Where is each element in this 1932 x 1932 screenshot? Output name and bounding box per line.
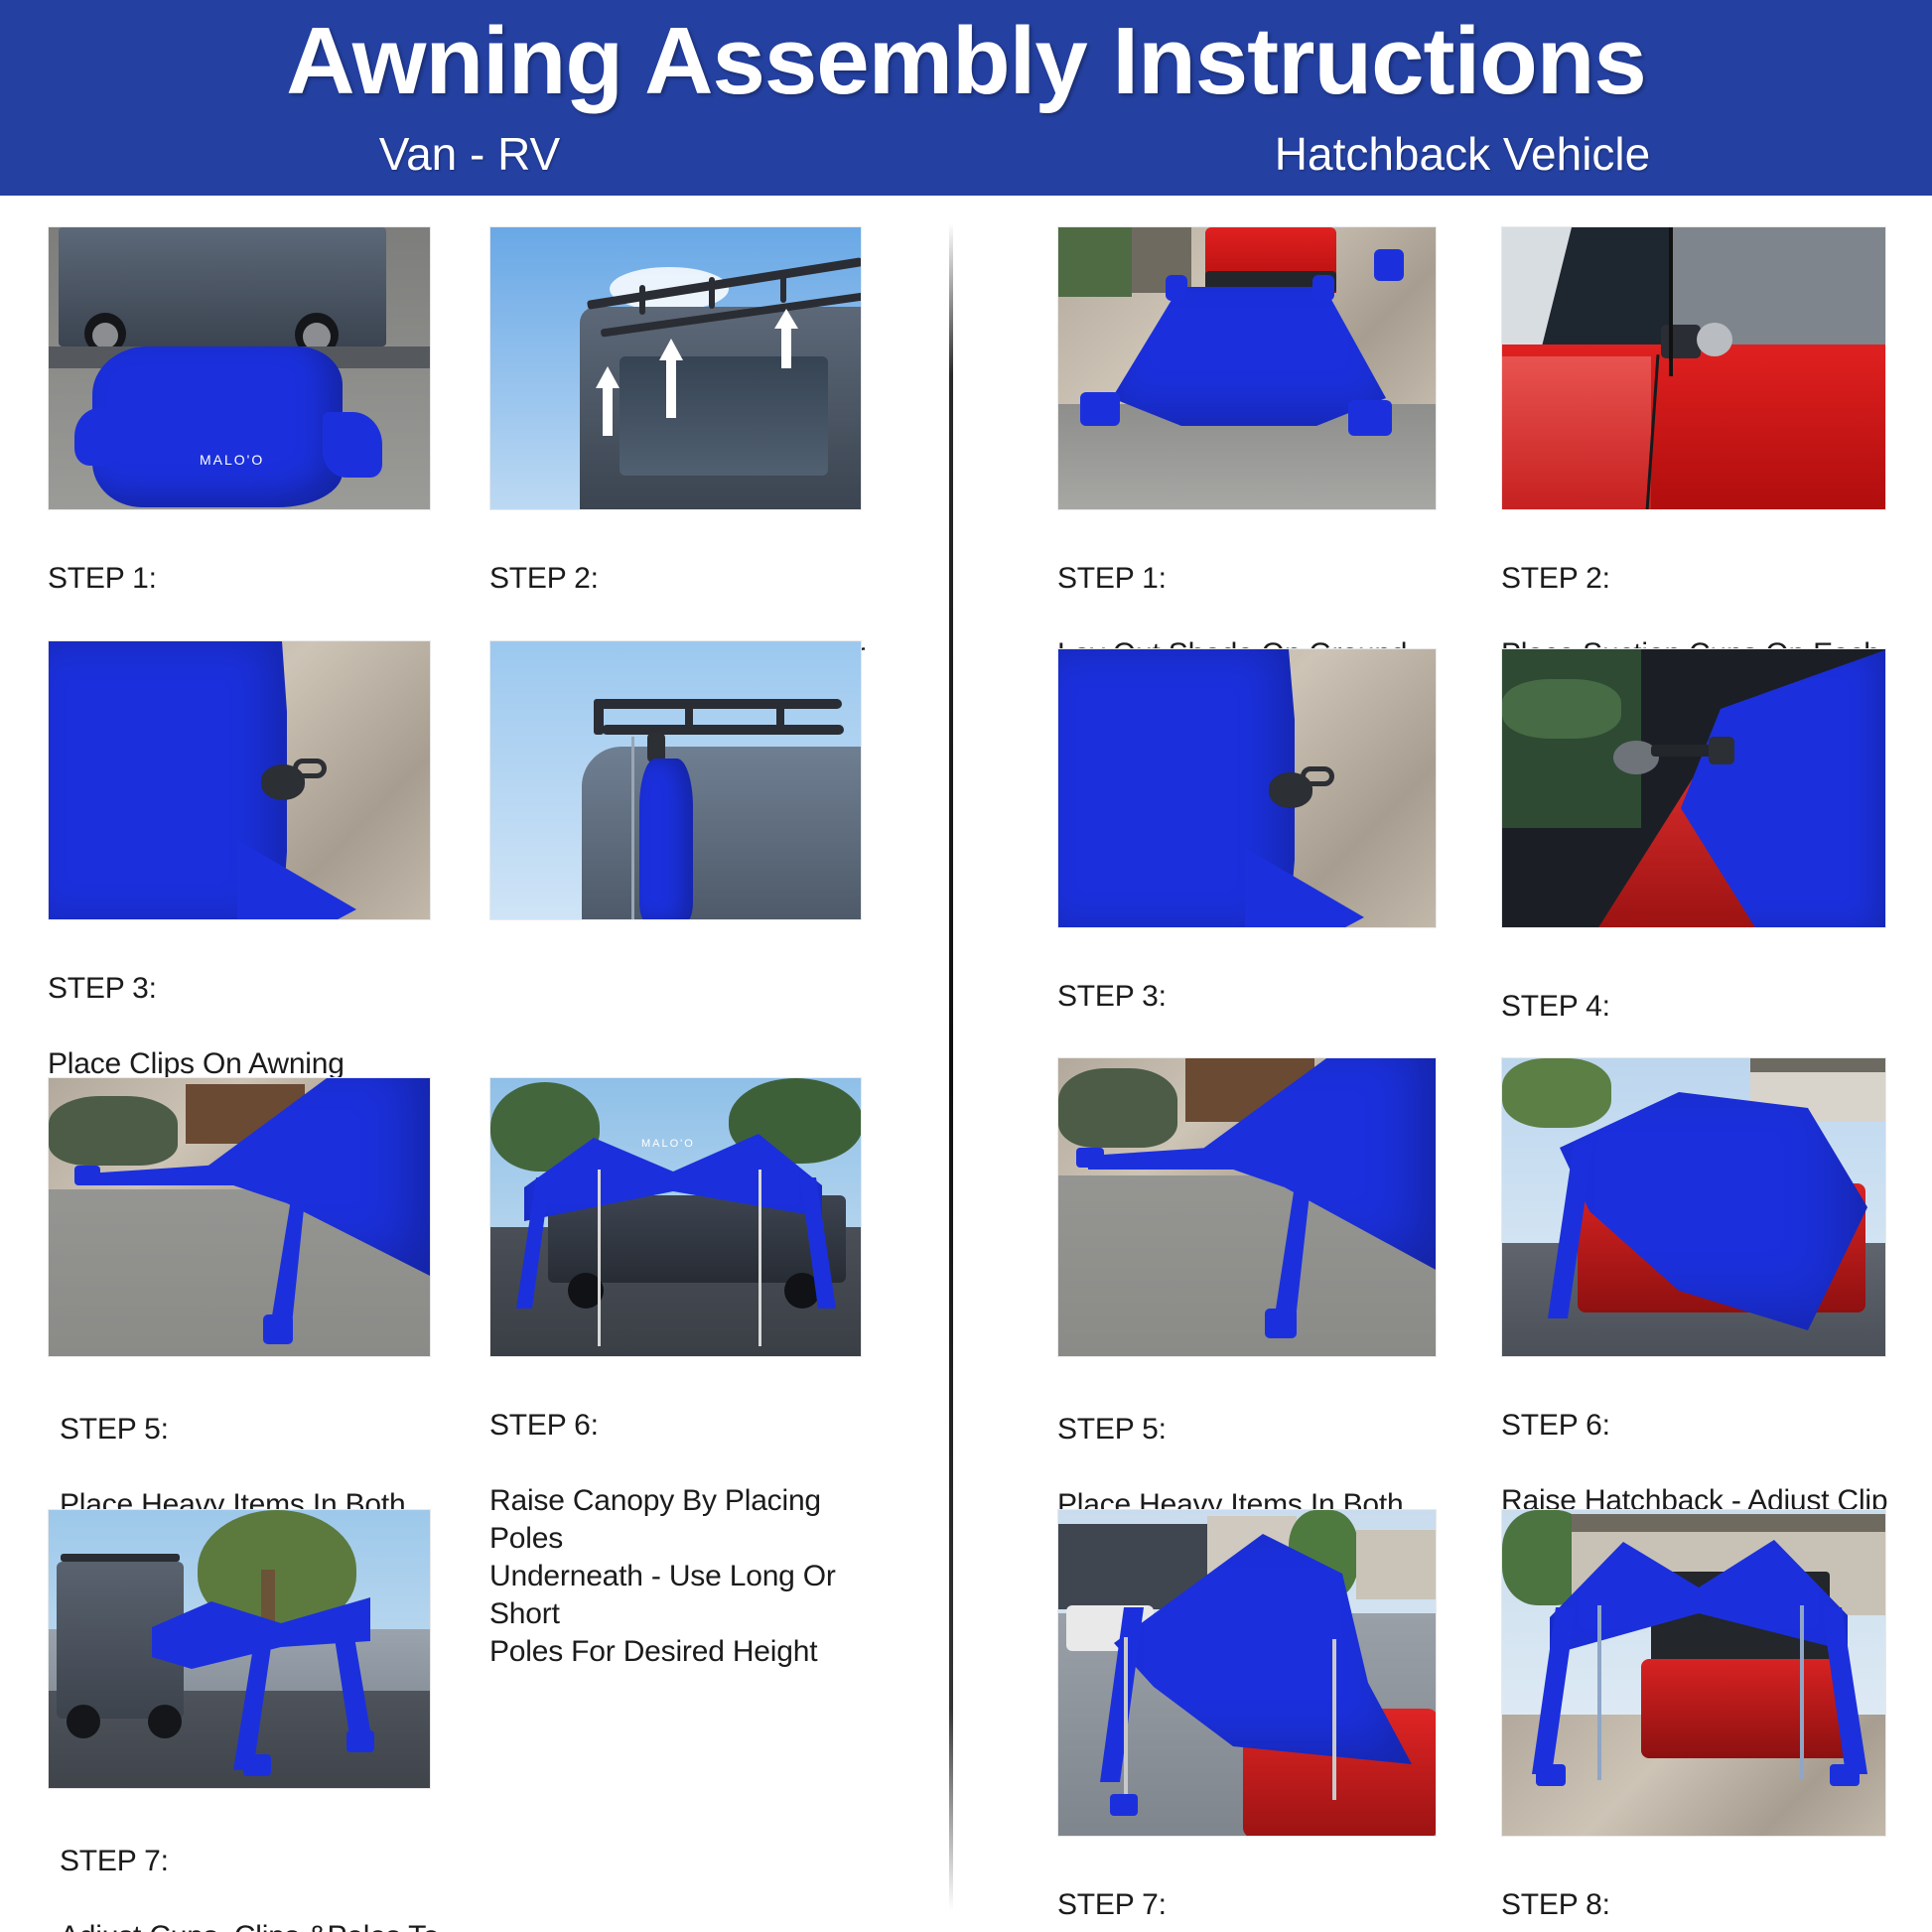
step-label: STEP 5: (1057, 1411, 1441, 1449)
arrow-up-icon-2 (659, 339, 683, 423)
step-photo-hatch-7 (1057, 1509, 1437, 1837)
step-photo-hatch-2 (1501, 226, 1886, 510)
step-caption-hatch-7: STEP 7: Place Poles Under Tent Near Outw… (1057, 1849, 1441, 1932)
step-label: STEP 5: (60, 1411, 431, 1449)
step-caption-van-6: STEP 6: Raise Canopy By Placing Poles Un… (489, 1369, 887, 1709)
right-column-subtitle: Hatchback Vehicle (993, 127, 1932, 181)
step-caption-van-7: STEP 7: Adjust Cups, Clips &Poles To Ach… (60, 1805, 445, 1932)
step-cell-hatch-7: STEP 7: Place Poles Under Tent Near Outw… (1057, 1509, 1441, 1932)
step-label: STEP 8: (1501, 1886, 1898, 1924)
step-photo-van-3 (48, 640, 431, 920)
maloo-logo: MALO'O (200, 452, 264, 468)
instruction-sheet: Awning Assembly Instructions Van - RV Ha… (0, 0, 1932, 1932)
step-photo-hatch-5 (1057, 1057, 1437, 1357)
step-label: STEP 3: (48, 970, 431, 1008)
step-caption-hatch-8: STEP 8: Adjust Cups, Clips & Poles to Ac… (1501, 1849, 1898, 1932)
step-label: STEP 1: (1057, 560, 1441, 598)
step-photo-van-2 (489, 226, 862, 510)
step-label: STEP 6: (489, 1407, 887, 1445)
step-photo-hatch-8 (1501, 1509, 1886, 1837)
step-label: STEP 7: (60, 1843, 445, 1880)
step-cell-van-7: STEP 7: Adjust Cups, Clips &Poles To Ach… (48, 1509, 445, 1932)
step-photo-van-1: MALO'O (48, 226, 431, 510)
step-photo-van-5 (48, 1077, 431, 1357)
step-text: Adjust Cups, Clips &Poles To Achieve Des… (60, 1918, 445, 1932)
step-photo-hatch-6 (1501, 1057, 1886, 1357)
column-divider (949, 223, 953, 1911)
step-label: STEP 6: (1501, 1407, 1898, 1445)
step-label: STEP 2: (489, 560, 873, 598)
step-photo-van-7 (48, 1509, 431, 1789)
step-photo-hatch-1 (1057, 226, 1437, 510)
step-photo-van-4 (489, 640, 862, 920)
step-cell-hatch-8: STEP 8: Adjust Cups, Clips & Poles to Ac… (1501, 1509, 1898, 1932)
left-column-subtitle: Van - RV (0, 127, 939, 181)
header-banner: Awning Assembly Instructions Van - RV Ha… (0, 0, 1932, 196)
maloo-logo: MALO'O (641, 1138, 695, 1150)
arrow-up-icon-3 (774, 309, 798, 373)
step-photo-van-6: MALO'O (489, 1077, 862, 1357)
step-photo-hatch-3 (1057, 648, 1437, 928)
step-label: STEP 2: (1501, 560, 1898, 598)
arrow-up-icon-1 (596, 366, 620, 441)
step-label: STEP 3: (1057, 978, 1441, 1016)
step-label: STEP 1: (48, 560, 431, 598)
page-title: Awning Assembly Instructions (0, 6, 1932, 117)
step-label: STEP 7: (1057, 1886, 1441, 1924)
step-cell-van-6: MALO'O STEP 6: Raise Canopy By Placing P… (489, 1077, 887, 1709)
step-photo-hatch-4 (1501, 648, 1886, 928)
step-text: Raise Canopy By Placing Poles Underneath… (489, 1482, 887, 1671)
step-label: STEP 4: (1501, 988, 1898, 1026)
